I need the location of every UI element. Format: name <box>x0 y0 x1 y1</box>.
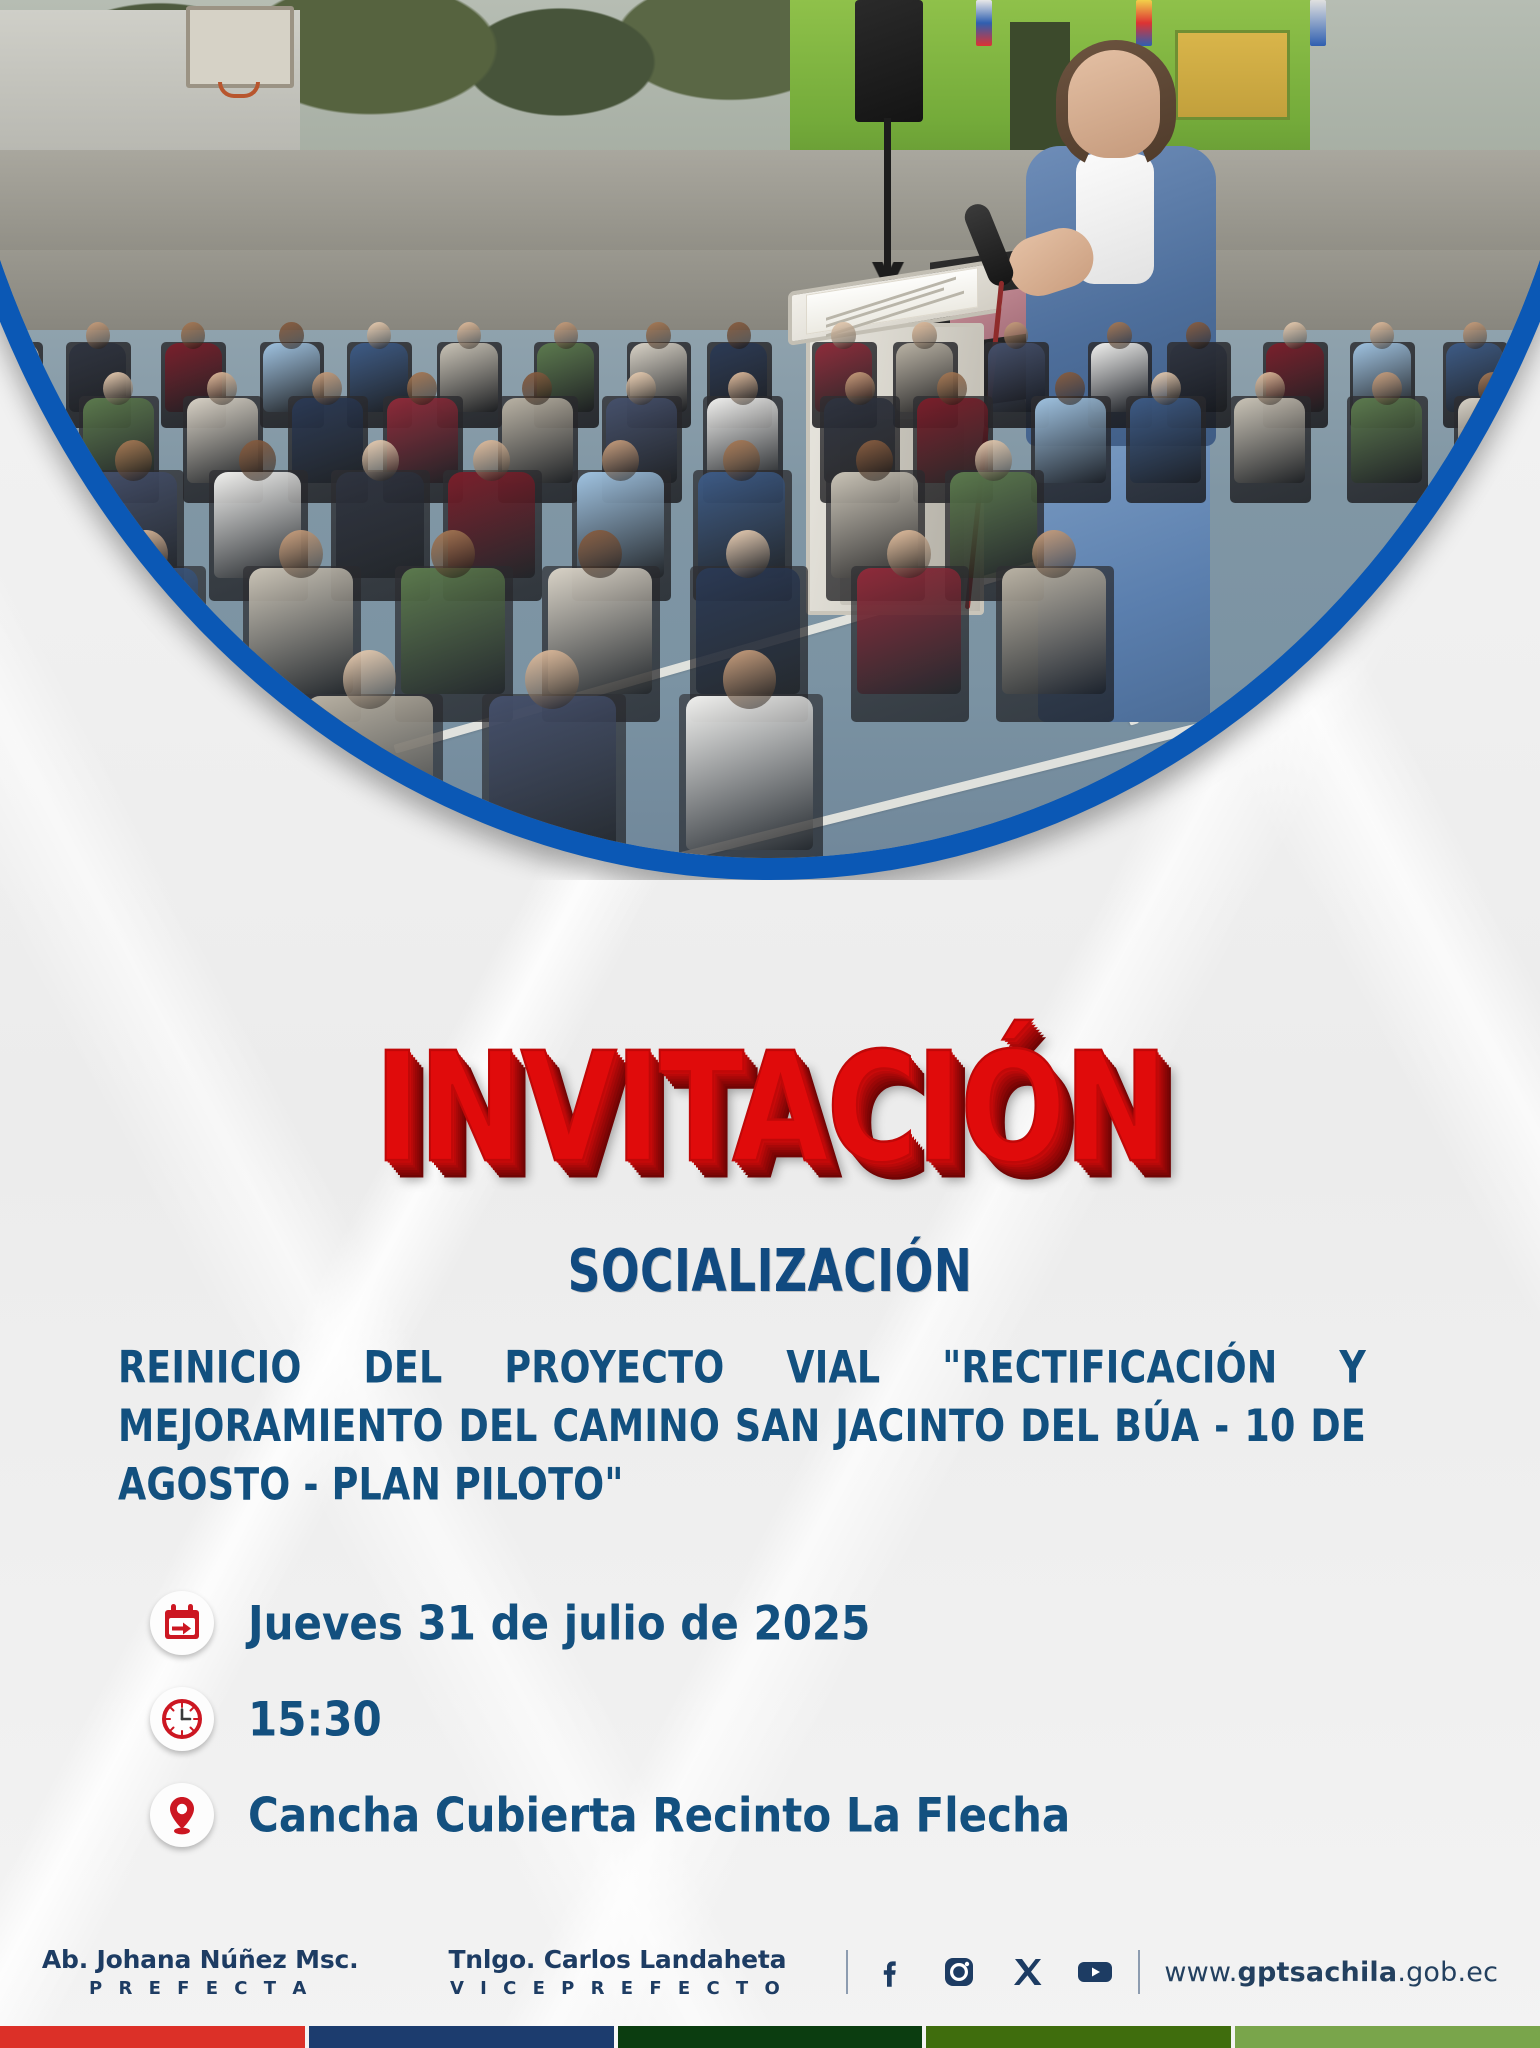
photo-audience-torso <box>0 696 65 850</box>
photo-audience-head <box>239 440 276 481</box>
detail-row-time: 15:30 <box>150 1671 1390 1767</box>
photo-audience-head <box>727 322 751 349</box>
footer: Ab. Johana Núñez Msc. P R E F E C T A Tn… <box>0 1928 1540 2016</box>
photo-audience-torso <box>306 696 433 850</box>
photo-audience-head <box>103 372 133 405</box>
photo-audience-head <box>975 440 1012 481</box>
photo-audience-member <box>857 530 961 706</box>
event-details: Jueves 31 de julio de 2025 <box>150 1575 1390 1863</box>
photo-loudspeaker <box>855 0 923 122</box>
photo-audience-head <box>1107 322 1131 349</box>
photo-audience-head <box>207 372 237 405</box>
photo-audience-head <box>367 322 391 349</box>
detail-location-text: Cancha Cubierta Recinto La Flecha <box>248 1788 1070 1843</box>
photo-audience-head <box>279 322 303 349</box>
footer-divider-2 <box>1138 1950 1140 1994</box>
photo-audience-head <box>164 650 218 709</box>
authority-prefect: Ab. Johana Núñez Msc. P R E F E C T A <box>42 1945 359 1999</box>
clock-icon <box>150 1687 214 1751</box>
viceprefect-name: Tnlgo. Carlos Landaheta <box>448 1945 786 1974</box>
photo-audience-head <box>457 322 481 349</box>
photo-audience-torso <box>1002 568 1106 694</box>
photo-audience-head <box>181 322 205 349</box>
photo-audience-head <box>1372 372 1402 405</box>
photo-audience-head <box>1055 372 1085 405</box>
photo-audience-member <box>306 650 433 858</box>
photo-audience-torso <box>1351 398 1422 484</box>
photo-audience-head <box>1463 322 1487 349</box>
bar-red <box>0 2026 305 2048</box>
detail-date-text: Jueves 31 de julio de 2025 <box>248 1596 870 1651</box>
photo-audience-member <box>1035 372 1106 492</box>
photo-audience-head <box>86 322 110 349</box>
title-container: INVITACIÓN <box>0 1020 1540 1162</box>
photo-audience-head <box>831 322 855 349</box>
photo-audience-torso <box>686 696 813 850</box>
photo-audience-torso <box>1458 398 1529 484</box>
bottom-color-bars <box>0 2026 1540 2048</box>
photo-audience-head <box>343 650 397 709</box>
website-suffix: .gob.ec <box>1397 1957 1498 1988</box>
photo-speaker-stand <box>884 118 891 278</box>
photo-audience-head <box>1151 372 1181 405</box>
hero-photo-section <box>0 0 1540 880</box>
website-prefix: www. <box>1164 1957 1237 1988</box>
website-url[interactable]: www.gptsachila.gob.ec <box>1164 1957 1498 1988</box>
photo-audience-head <box>1478 372 1508 405</box>
photo-audience-head <box>362 440 399 481</box>
photo-audience-head <box>602 440 639 481</box>
photo-audience-head <box>312 372 342 405</box>
bar-navy <box>309 2026 614 2048</box>
photo-audience-member <box>1234 372 1305 492</box>
photo-audience-head <box>626 372 656 405</box>
photo-audience-member <box>0 650 65 858</box>
calendar-icon <box>150 1591 214 1655</box>
event-photo <box>0 0 1540 858</box>
photo-audience-torso <box>128 696 255 850</box>
photo-flag <box>1310 0 1326 46</box>
website-brand: gptsachila <box>1238 1957 1398 1988</box>
photo-flag <box>1136 0 1152 46</box>
photo-flag <box>976 0 992 46</box>
x-twitter-icon[interactable] <box>1008 1953 1046 1991</box>
photo-audience-head <box>522 372 552 405</box>
location-pin-icon <box>150 1783 214 1847</box>
photo-audience-head <box>1032 530 1076 578</box>
photo-audience-head <box>726 530 770 578</box>
prefect-name: Ab. Johana Núñez Msc. <box>42 1945 359 1974</box>
detail-row-date: Jueves 31 de julio de 2025 <box>150 1575 1390 1671</box>
photo-audience-head <box>723 440 760 481</box>
bar-olive-green <box>926 2026 1231 2048</box>
photo-audience-head <box>1004 322 1028 349</box>
photo-audience-member <box>1351 372 1422 492</box>
youtube-icon[interactable] <box>1076 1953 1114 1991</box>
photo-basketball-backboard <box>186 6 294 88</box>
photo-audience-head <box>845 372 875 405</box>
viceprefect-role: V I C E P R E F E C T O <box>448 1978 786 1999</box>
bar-dark-green <box>618 2026 923 2048</box>
project-description: REINICIO DEL PROYECTO VIAL "RECTIFICACIÓ… <box>118 1338 1366 1514</box>
photo-audience-head <box>115 440 152 481</box>
prefect-role: P R E F E C T A <box>42 1978 359 1999</box>
photo-audience-head <box>473 440 510 481</box>
photo-audience-torso <box>857 568 961 694</box>
page-title: INVITACIÓN <box>374 1020 1166 1196</box>
detail-row-location: Cancha Cubierta Recinto La Flecha <box>150 1767 1390 1863</box>
photo-audience-head <box>554 322 578 349</box>
facebook-icon[interactable] <box>872 1953 910 1991</box>
photo-audience-head <box>124 530 168 578</box>
photo-audience-head <box>0 322 22 349</box>
footer-divider <box>846 1950 848 1994</box>
photo-audience-member <box>128 650 255 858</box>
subtitle: SOCIALIZACIÓN <box>54 1237 1486 1305</box>
instagram-icon[interactable] <box>940 1953 978 1991</box>
photo-speaker-head <box>1068 50 1160 158</box>
photo-audience-member <box>1002 530 1106 706</box>
bar-light-green <box>1235 2026 1540 2048</box>
authority-viceprefect: Tnlgo. Carlos Landaheta V I C E P R E F … <box>448 1945 786 1999</box>
photo-audience-member <box>1130 372 1201 492</box>
photo-audience-member <box>686 650 813 858</box>
photo-audience-head <box>728 372 758 405</box>
photo-audience-torso <box>489 696 616 850</box>
photo-audience-member <box>489 650 616 858</box>
photo-audience-torso <box>1035 398 1106 484</box>
invitation-poster: INVITACIÓN SOCIALIZACIÓN REINICIO DEL PR… <box>0 0 1540 2048</box>
photo-audience-torso <box>1234 398 1305 484</box>
social-links <box>872 1953 1114 1991</box>
detail-time-text: 15:30 <box>248 1692 382 1747</box>
photo-audience-head <box>525 650 579 709</box>
photo-audience-head <box>723 650 777 709</box>
photo-audience-head <box>1283 322 1307 349</box>
photo-audience-torso <box>1130 398 1201 484</box>
photo-audience-head <box>1186 322 1210 349</box>
photo-back-wall <box>0 150 1540 260</box>
photo-audience-head <box>1255 372 1285 405</box>
photo-clip-mask <box>0 0 1540 858</box>
photo-audience-member <box>1458 372 1529 492</box>
photo-audience-head <box>1370 322 1394 349</box>
photo-audience-head <box>646 322 670 349</box>
photo-audience-head <box>887 530 931 578</box>
photo-audience-head <box>912 322 936 349</box>
photo-audience-head <box>856 440 893 481</box>
